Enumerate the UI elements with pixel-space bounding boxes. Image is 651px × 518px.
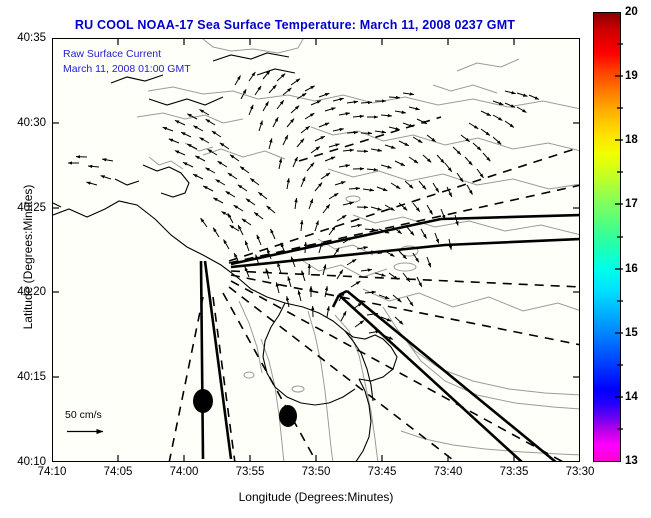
surface-current-quiver: [68, 71, 539, 340]
colorbar-tick-label: 18: [625, 134, 638, 146]
y-tick-label: 40:10: [4, 456, 46, 468]
radar-radial-lines: [169, 117, 579, 461]
radar-site-markers: [193, 389, 297, 427]
radar-site-marker: [193, 389, 213, 413]
chart-title: RU COOL NOAA-17 Sea Surface Temperature:…: [0, 18, 590, 32]
colorbar-tick-label: 19: [625, 70, 638, 82]
x-axis-label: Longitude (Degrees:Minutes): [52, 490, 580, 504]
map-graphics: [53, 39, 579, 461]
colorbar-tick-label: 13: [625, 455, 638, 467]
colorbar-tick-label: 20: [625, 6, 638, 18]
y-tick-label: 40:30: [4, 117, 46, 129]
y-axis-label: Latitude (Degrees:Minutes): [21, 147, 35, 367]
x-tick-label: 73:30: [566, 466, 595, 478]
scale-legend-label: 50 cm/s: [65, 409, 111, 421]
colorbar[interactable]: [593, 12, 621, 462]
x-tick-label: 74:05: [104, 466, 133, 478]
colorbar-tick-label: 17: [625, 198, 638, 210]
x-tick-label: 73:50: [302, 466, 331, 478]
colorbar-tick-label: 16: [625, 263, 638, 275]
annotation-line-1: Raw Surface Current: [63, 47, 191, 62]
annotation-line-2: March 11, 2008 01:00 GMT: [63, 62, 191, 77]
scale-arrow-icon: [65, 427, 111, 436]
x-tick-label: 73:35: [500, 466, 529, 478]
x-tick-label: 74:00: [170, 466, 199, 478]
y-tick-label: 40:15: [4, 371, 46, 383]
map-plot-area[interactable]: Raw Surface Current March 11, 2008 01:00…: [52, 38, 580, 462]
x-tick-label: 73:55: [236, 466, 265, 478]
x-tick-label: 73:40: [434, 466, 463, 478]
colorbar-tick-label: 14: [625, 391, 638, 403]
radar-site-marker: [279, 405, 297, 427]
current-annotation: Raw Surface Current March 11, 2008 01:00…: [63, 47, 191, 77]
y-tick-label: 40:35: [4, 32, 46, 44]
colorbar-tick-label: 15: [625, 327, 638, 339]
scale-legend: 50 cm/s: [65, 409, 111, 441]
map-canvas: Raw Surface Current March 11, 2008 01:00…: [53, 39, 579, 461]
x-tick-label: 73:45: [368, 466, 397, 478]
